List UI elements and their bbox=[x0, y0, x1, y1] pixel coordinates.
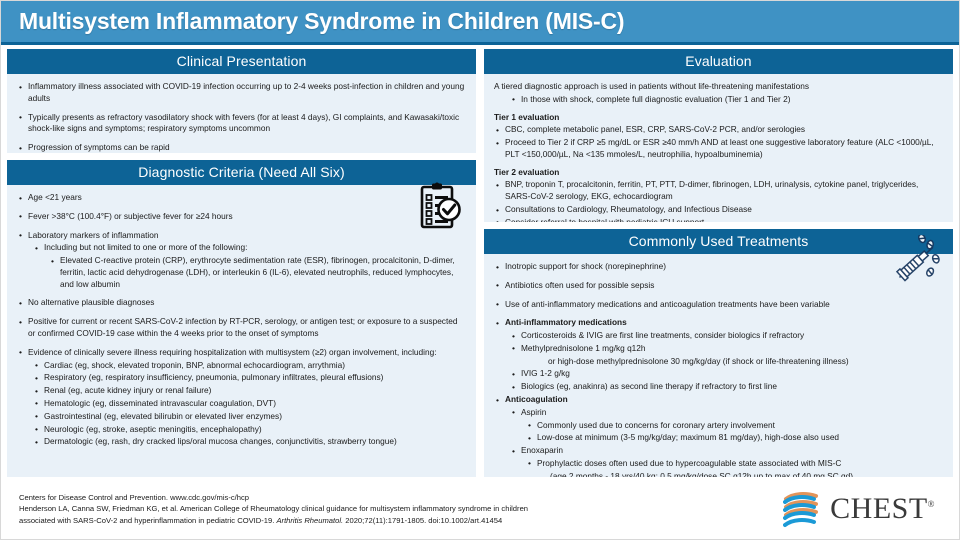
chest-logo-mark bbox=[783, 490, 825, 528]
list-item-text: Consultations to Cardiology, Rheumatolog… bbox=[505, 204, 943, 216]
citation-line-2c: 2020;72(11):1791-1805. doi:10.1002/art.4… bbox=[343, 516, 502, 525]
list-item: Laboratory markers of inflammation bbox=[17, 230, 466, 242]
clinical-presentation-list: Inflammatory illness associated with COV… bbox=[17, 81, 466, 153]
list-item-text: CBC, complete metabolic panel, ESR, CRP,… bbox=[505, 124, 943, 136]
list-item-text: IVIG 1-2 g/kg bbox=[521, 368, 943, 380]
list-item: Corticosteroids & IVIG are first line tr… bbox=[510, 330, 943, 342]
citation-line-1: Centers for Disease Control and Preventi… bbox=[19, 492, 783, 503]
list-item: In those with shock, complete full diagn… bbox=[510, 94, 943, 106]
list-item: Dermatologic (eg, rash, dry cracked lips… bbox=[33, 436, 466, 448]
list-item-text: Dermatologic (eg, rash, dry cracked lips… bbox=[44, 436, 466, 448]
panel-header-diagnostic-criteria: Diagnostic Criteria (Need All Six) bbox=[7, 160, 476, 185]
evaluation-intro-sublist: In those with shock, complete full diagn… bbox=[494, 94, 943, 106]
list-item: Inotropic support for shock (norepinephr… bbox=[494, 261, 943, 273]
list-item: BNP, troponin T, procalcitonin, ferritin… bbox=[494, 179, 943, 203]
list-item: Hematologic (eg, disseminated intravascu… bbox=[33, 398, 466, 410]
citation-line-2b: associated with SARS-CoV-2 and hyperinfl… bbox=[19, 516, 276, 525]
list-item: Fever >38°C (100.4°F) or subjective feve… bbox=[17, 211, 466, 223]
list-item-text: Fever >38°C (100.4°F) or subjective feve… bbox=[28, 211, 466, 223]
chest-logo-text: CHEST® bbox=[830, 492, 935, 526]
list-item-text: Progression of symptoms can be rapid bbox=[28, 142, 466, 153]
list-item: Low-dose at minimum (3-5 mg/kg/day; maxi… bbox=[526, 432, 943, 444]
panel-clinical-presentation: Clinical Presentation Inflammatory illne… bbox=[7, 49, 476, 153]
tier1-heading: Tier 1 evaluation bbox=[494, 112, 943, 124]
list-item-text: Inflammatory illness associated with COV… bbox=[28, 81, 466, 105]
list-item-text: No alternative plausible diagnoses bbox=[28, 297, 466, 309]
list-item: Biologics (eg, anakinra) as second line … bbox=[510, 381, 943, 393]
list-item-text: (age 2 months - 18 yrs/40 kg; 0.5 mg/kg/… bbox=[550, 471, 943, 477]
panel-header-clinical-presentation: Clinical Presentation bbox=[7, 49, 476, 74]
list-item: Cardiac (eg, shock, elevated troponin, B… bbox=[33, 360, 466, 372]
tier1-list: CBC, complete metabolic panel, ESR, CRP,… bbox=[494, 124, 943, 160]
list-item: Commonly used due to concerns for corona… bbox=[526, 420, 943, 432]
list-item: Typically presents as refractory vasodil… bbox=[17, 112, 466, 136]
list-item: Evidence of clinically severe illness re… bbox=[17, 347, 466, 359]
list-item: CBC, complete metabolic panel, ESR, CRP,… bbox=[494, 124, 943, 136]
list-item-text: Commonly used due to concerns for corona… bbox=[537, 420, 943, 432]
list-item: IVIG 1-2 g/kg bbox=[510, 368, 943, 380]
panel-body-evaluation: A tiered diagnostic approach is used in … bbox=[484, 74, 953, 222]
citation-line-2: Henderson LA, Canna SW, Friedman KG, et … bbox=[19, 503, 783, 514]
left-column: Clinical Presentation Inflammatory illne… bbox=[7, 49, 476, 477]
list-item: Progression of symptoms can be rapid bbox=[17, 142, 466, 153]
diagnostic-criteria-list: Age <21 yearsFever >38°C (100.4°F) or su… bbox=[17, 192, 466, 448]
clipboard-check-icon bbox=[418, 182, 462, 230]
list-item-text: Aspirin bbox=[521, 407, 943, 419]
list-item: Consultations to Cardiology, Rheumatolog… bbox=[494, 204, 943, 216]
list-item: Neurologic (eg, stroke, aseptic meningit… bbox=[33, 424, 466, 436]
poster-root: Multisystem Inflammatory Syndrome in Chi… bbox=[0, 0, 960, 540]
list-item: Respiratory (eg, respiratory insufficien… bbox=[33, 372, 466, 384]
list-item-text: Methylprednisolone 1 mg/kg q12h bbox=[521, 343, 943, 355]
list-item: Inflammatory illness associated with COV… bbox=[17, 81, 466, 105]
list-item-text: Cardiac (eg, shock, elevated troponin, B… bbox=[44, 360, 466, 372]
list-item: Prophylactic doses often used due to hyp… bbox=[526, 458, 943, 470]
list-item: Age <21 years bbox=[17, 192, 466, 204]
list-item-text: Biologics (eg, anakinra) as second line … bbox=[521, 381, 943, 393]
list-item: (age 2 months - 18 yrs/40 kg; 0.5 mg/kg/… bbox=[550, 471, 943, 477]
list-item: Renal (eg, acute kidney injury or renal … bbox=[33, 385, 466, 397]
list-item: Proceed to Tier 2 if CRP ≥5 mg/dL or ESR… bbox=[494, 137, 943, 161]
citation-block: Centers for Disease Control and Preventi… bbox=[19, 492, 783, 526]
list-item-text: Renal (eg, acute kidney injury or renal … bbox=[44, 385, 466, 397]
list-item: Gastrointestinal (eg, elevated bilirubin… bbox=[33, 411, 466, 423]
panel-body-diagnostic-criteria: Age <21 yearsFever >38°C (100.4°F) or su… bbox=[7, 185, 476, 457]
list-item: Use of anti-inflammatory medications and… bbox=[494, 299, 943, 311]
list-item-text: Positive for current or recent SARS-CoV-… bbox=[28, 316, 466, 340]
list-item-text: Neurologic (eg, stroke, aseptic meningit… bbox=[44, 424, 466, 436]
list-item-text: or high-dose methylprednisolone 30 mg/kg… bbox=[548, 356, 943, 368]
list-item-text: Gastrointestinal (eg, elevated bilirubin… bbox=[44, 411, 466, 423]
list-item: Anti-inflammatory medications bbox=[494, 317, 943, 329]
list-item-text: Anticoagulation bbox=[505, 394, 943, 406]
list-item-text: Respiratory (eg, respiratory insufficien… bbox=[44, 372, 466, 384]
panel-header-evaluation: Evaluation bbox=[484, 49, 953, 74]
list-item-text: Hematologic (eg, disseminated intravascu… bbox=[44, 398, 466, 410]
list-item: Antibiotics often used for possible seps… bbox=[494, 280, 943, 292]
registered-mark-icon: ® bbox=[928, 499, 935, 509]
list-item-text: Laboratory markers of inflammation bbox=[28, 230, 466, 242]
list-item-text: Prophylactic doses often used due to hyp… bbox=[537, 458, 943, 470]
panel-diagnostic-criteria: Diagnostic Criteria (Need All Six) bbox=[7, 160, 476, 477]
right-column: Evaluation A tiered diagnostic approach … bbox=[484, 49, 953, 477]
panel-body-treatments: Inotropic support for shock (norepinephr… bbox=[484, 254, 953, 477]
list-item-text: In those with shock, complete full diagn… bbox=[521, 94, 943, 106]
list-item-text: Proceed to Tier 2 if CRP ≥5 mg/dL or ESR… bbox=[505, 137, 943, 161]
list-item-text: BNP, troponin T, procalcitonin, ferritin… bbox=[505, 179, 943, 203]
chest-wordmark: CHEST bbox=[830, 492, 928, 525]
list-item-text: Use of anti-inflammatory medications and… bbox=[505, 299, 943, 311]
list-item: Consider referral to hospital with pedia… bbox=[494, 217, 943, 222]
list-item-text: Including but not limited to one or more… bbox=[44, 242, 466, 254]
panel-header-treatments: Commonly Used Treatments bbox=[484, 229, 953, 254]
tier2-list: BNP, troponin T, procalcitonin, ferritin… bbox=[494, 179, 943, 222]
list-item-text: Low-dose at minimum (3-5 mg/kg/day; maxi… bbox=[537, 432, 943, 444]
list-item-text: Consider referral to hospital with pedia… bbox=[505, 217, 943, 222]
page-title: Multisystem Inflammatory Syndrome in Chi… bbox=[19, 8, 624, 35]
list-item-text: Anti-inflammatory medications bbox=[505, 317, 943, 329]
panel-body-clinical-presentation: Inflammatory illness associated with COV… bbox=[7, 74, 476, 153]
list-item-text: Elevated C-reactive protein (CRP), eryth… bbox=[60, 255, 466, 290]
list-item: No alternative plausible diagnoses bbox=[17, 297, 466, 309]
chest-logo: CHEST® bbox=[783, 490, 945, 528]
list-item: or high-dose methylprednisolone 30 mg/kg… bbox=[548, 356, 943, 368]
content-columns: Clinical Presentation Inflammatory illne… bbox=[1, 45, 959, 477]
panel-evaluation: Evaluation A tiered diagnostic approach … bbox=[484, 49, 953, 222]
list-item: Anticoagulation bbox=[494, 394, 943, 406]
footer: Centers for Disease Control and Preventi… bbox=[1, 479, 959, 539]
panel-commonly-used-treatments: Commonly Used Treatments bbox=[484, 229, 953, 477]
list-item: Positive for current or recent SARS-CoV-… bbox=[17, 316, 466, 340]
list-item-text: Age <21 years bbox=[28, 192, 466, 204]
syringe-pills-icon bbox=[891, 235, 943, 285]
list-item: Methylprednisolone 1 mg/kg q12h bbox=[510, 343, 943, 355]
list-item-text: Evidence of clinically severe illness re… bbox=[28, 347, 466, 359]
list-item-text: Enoxaparin bbox=[521, 445, 943, 457]
list-item: Elevated C-reactive protein (CRP), eryth… bbox=[49, 255, 466, 290]
list-item: Aspirin bbox=[510, 407, 943, 419]
treatments-list: Inotropic support for shock (norepinephr… bbox=[494, 261, 943, 477]
citation-line-3: associated with SARS-CoV-2 and hyperinfl… bbox=[19, 515, 783, 526]
list-item-text: Corticosteroids & IVIG are first line tr… bbox=[521, 330, 943, 342]
citation-line-2a: Henderson LA, Canna SW, Friedman KG, et … bbox=[19, 504, 528, 513]
poster-title-bar: Multisystem Inflammatory Syndrome in Chi… bbox=[1, 1, 959, 45]
list-item: Enoxaparin bbox=[510, 445, 943, 457]
list-item: Including but not limited to one or more… bbox=[33, 242, 466, 254]
list-item-text: Typically presents as refractory vasodil… bbox=[28, 112, 466, 136]
tier2-heading: Tier 2 evaluation bbox=[494, 167, 943, 179]
list-item-text: Antibiotics often used for possible seps… bbox=[505, 280, 943, 292]
citation-journal: Arthritis Rheumatol. bbox=[276, 516, 343, 525]
list-item-text: Inotropic support for shock (norepinephr… bbox=[505, 261, 943, 273]
evaluation-intro: A tiered diagnostic approach is used in … bbox=[494, 81, 943, 93]
